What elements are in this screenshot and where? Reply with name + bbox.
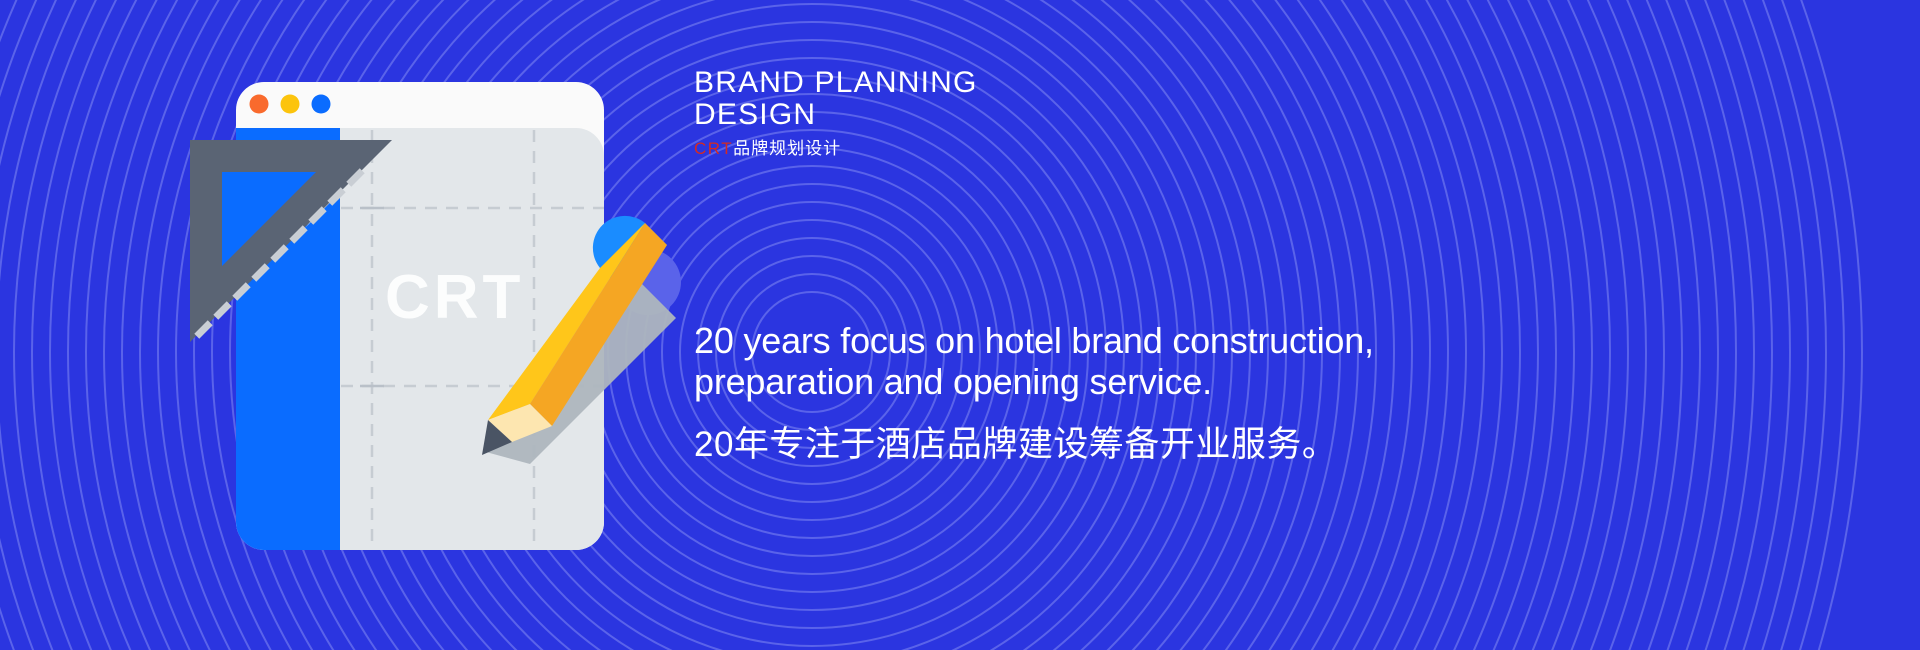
window-control-dots: [250, 95, 331, 114]
document-watermark-crt: CRT: [385, 263, 524, 332]
tagline-block: 20 years focus on hotel brand constructi…: [694, 320, 1814, 466]
eyebrow-line-2: DESIGN: [694, 101, 1334, 129]
tagline-english-line-1: 20 years focus on hotel brand constructi…: [694, 320, 1814, 361]
eyebrow-chinese-text: 品牌规划设计: [733, 139, 841, 158]
tagline-chinese: 20年专注于酒店品牌建设筹备开业服务。: [694, 424, 1814, 466]
hero-banner: CRT: [0, 0, 1920, 650]
banner-copy-block: BRAND PLANNING DESIGN CRT品牌规划设计 20 years…: [694, 0, 1874, 650]
eyebrow-chinese-subtitle: CRT品牌规划设计: [694, 139, 1334, 159]
tagline-english-line-2: preparation and opening service.: [694, 361, 1814, 402]
crt-brand-mark: CRT: [694, 139, 733, 158]
eyebrow-heading: BRAND PLANNING DESIGN CRT品牌规划设计: [694, 69, 1334, 159]
eyebrow-line-1: BRAND PLANNING: [694, 69, 1334, 97]
